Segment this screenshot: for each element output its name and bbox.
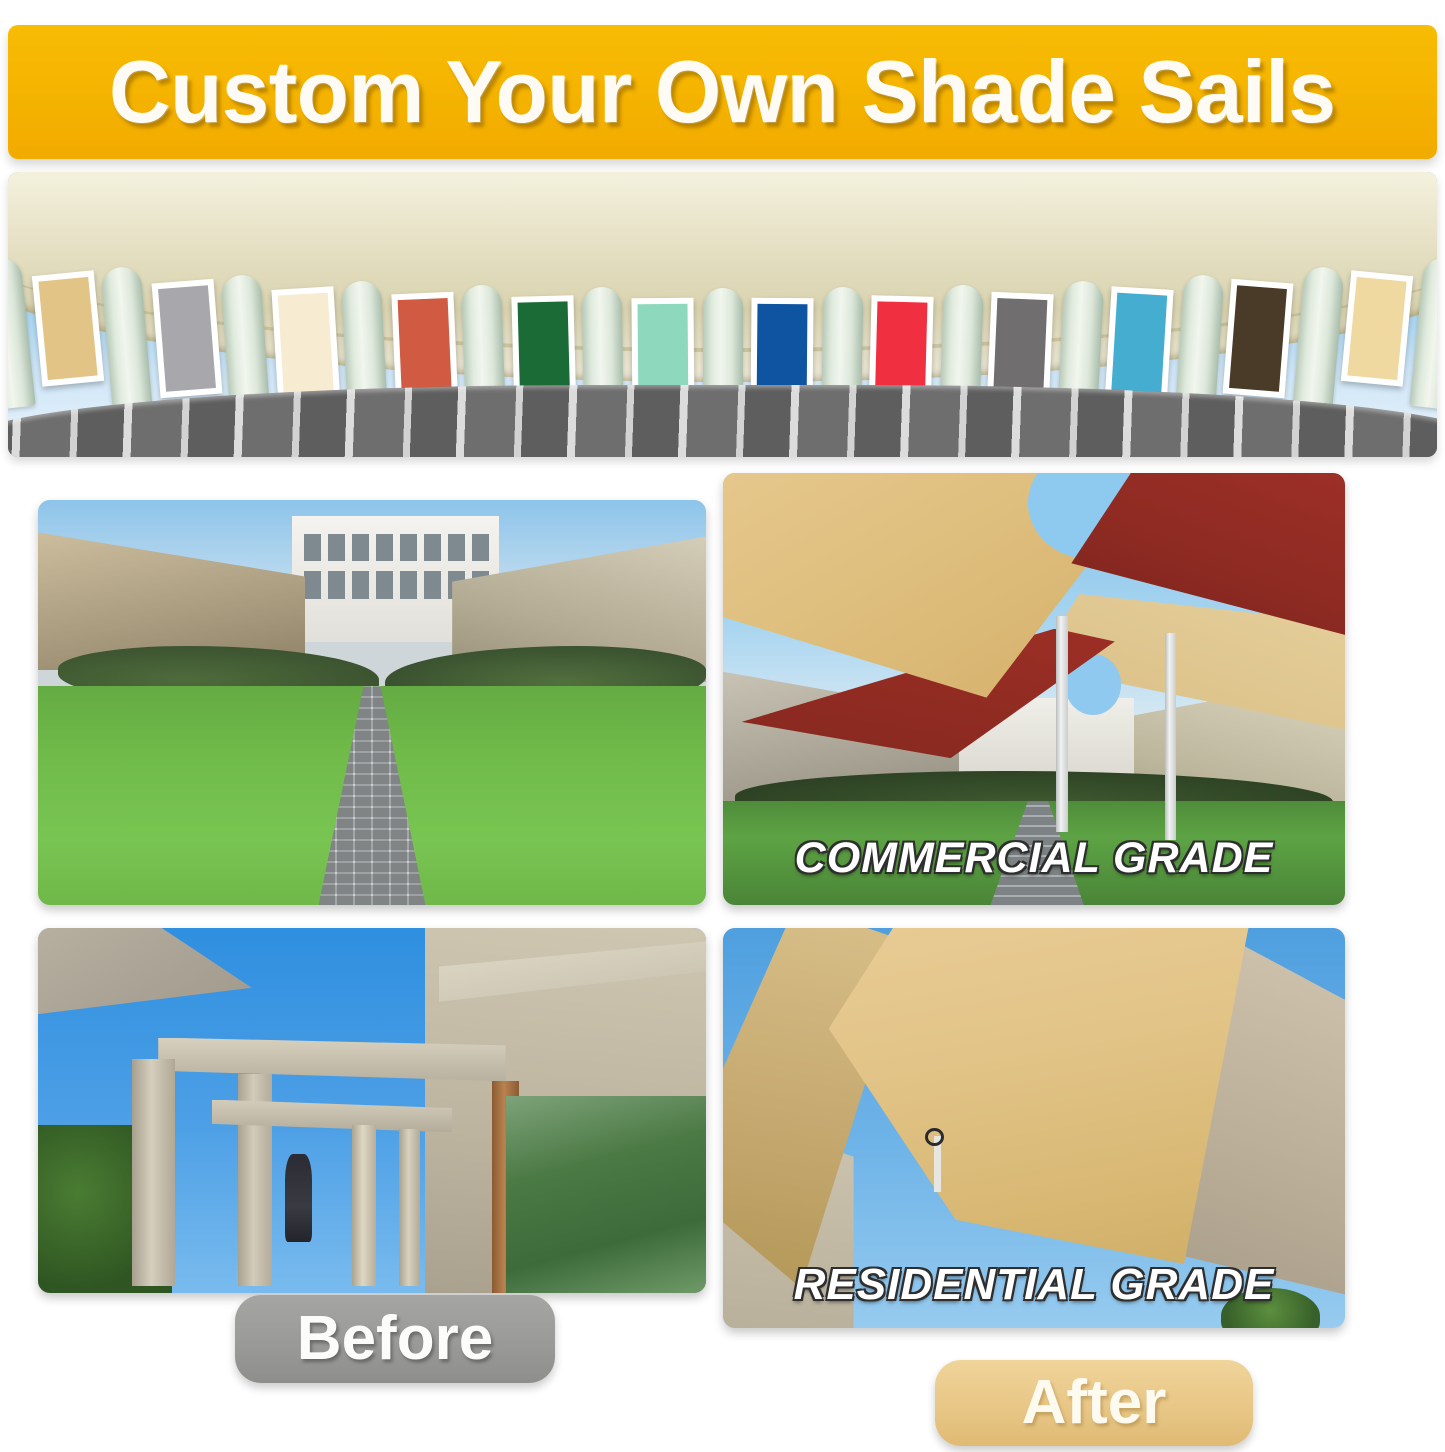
courtyard-before-photo xyxy=(38,500,706,905)
building-window xyxy=(400,534,417,562)
commercial-grade-photo: COMMERCIAL GRADE xyxy=(723,473,1345,905)
after-badge: After xyxy=(935,1360,1253,1446)
pergola-post xyxy=(352,1125,376,1286)
residential-grade-photo: RESIDENTIAL GRADE xyxy=(723,928,1345,1328)
mounting-ring-icon xyxy=(925,1128,944,1146)
colonnade-column xyxy=(1291,266,1344,423)
swatch-fill xyxy=(1111,292,1167,401)
commercial-grade-label: COMMERCIAL GRADE xyxy=(723,834,1345,883)
building-window xyxy=(424,571,441,599)
building-window xyxy=(424,534,441,562)
pergola-before-photo xyxy=(38,928,706,1293)
building-window xyxy=(352,534,369,562)
building-window xyxy=(376,571,393,599)
swatch-fill xyxy=(1348,277,1407,380)
color-swatch-dark-brown[interactable] xyxy=(1223,279,1294,399)
building-window xyxy=(328,534,345,562)
color-swatch-light-grey[interactable] xyxy=(151,279,222,399)
support-pole xyxy=(1056,616,1068,832)
building-window xyxy=(376,534,393,562)
pergola-post xyxy=(132,1059,175,1285)
building-window xyxy=(448,534,465,562)
pergola-post xyxy=(399,1129,420,1286)
swatch-fill xyxy=(1229,285,1287,392)
color-swatch-sand[interactable] xyxy=(31,270,103,386)
residential-grade-label: RESIDENTIAL GRADE xyxy=(723,1260,1345,1310)
building-window xyxy=(352,571,369,599)
glass-door-reflection xyxy=(506,1096,706,1293)
colonnade-column xyxy=(100,266,153,423)
page-title: Custom Your Own Shade Sails xyxy=(109,48,1335,136)
product-infographic: Custom Your Own Shade Sails xyxy=(0,0,1445,1452)
color-swatch-wheat[interactable] xyxy=(1341,270,1413,386)
swatch-fill xyxy=(278,292,334,401)
building-window xyxy=(304,571,321,599)
building-window xyxy=(328,571,345,599)
swatch-fill xyxy=(158,285,216,392)
worker-figure xyxy=(285,1154,312,1242)
header-banner: Custom Your Own Shade Sails xyxy=(8,25,1437,159)
building-window xyxy=(472,534,489,562)
support-pole xyxy=(1165,633,1177,840)
color-options-strip xyxy=(8,172,1437,457)
building-window xyxy=(400,571,417,599)
swatch-fill xyxy=(38,277,97,380)
before-badge: Before xyxy=(235,1295,555,1383)
colonnade-column xyxy=(1409,256,1437,409)
building-window xyxy=(304,534,321,562)
stone-base xyxy=(8,385,1437,457)
